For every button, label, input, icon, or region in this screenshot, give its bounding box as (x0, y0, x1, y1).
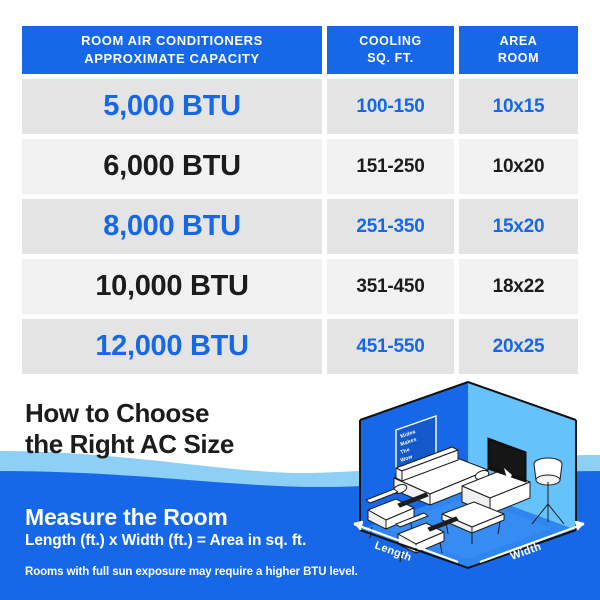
cell-area: 20x25 (459, 319, 578, 374)
cell-capacity: 6,000 BTU (22, 139, 322, 194)
header-area-line1: AREA (500, 34, 538, 48)
table-row: 5,000 BTU 100-150 10x15 (22, 79, 578, 134)
header-cooling-line2: SQ. FT. (367, 51, 414, 65)
cell-area: 10x15 (459, 79, 578, 134)
cell-cooling: 351-450 (327, 259, 454, 314)
cell-area: 18x22 (459, 259, 578, 314)
cell-cooling: 451-550 (327, 319, 454, 374)
room-illustration: Midea Makes The Wow (340, 372, 600, 572)
header-capacity-line2: APPROXIMATE CAPACITY (84, 51, 259, 66)
header-area-line2: ROOM (498, 51, 539, 65)
cell-cooling: 100-150 (327, 79, 454, 134)
cell-capacity: 12,000 BTU (22, 319, 322, 374)
cell-capacity: 5,000 BTU (22, 79, 322, 134)
banner-note: Rooms with full sun exposure may require… (25, 566, 358, 578)
headline-line-1: How to Choose (25, 398, 345, 429)
cell-capacity: 10,000 BTU (22, 259, 322, 314)
cell-area: 15x20 (459, 199, 578, 254)
cell-area: 10x20 (459, 139, 578, 194)
cell-cooling: 251-350 (327, 199, 454, 254)
infographic-page: ROOM AIR CONDITIONERS APPROXIMATE CAPACI… (0, 0, 600, 600)
btu-sizing-table: ROOM AIR CONDITIONERS APPROXIMATE CAPACI… (22, 26, 578, 379)
page-title: How to Choose the Right AC Size (25, 398, 345, 459)
banner-title: Measure the Room (25, 504, 228, 531)
header-cooling-line1: COOLING (359, 34, 422, 48)
cell-cooling: 151-250 (327, 139, 454, 194)
table-header-row: ROOM AIR CONDITIONERS APPROXIMATE CAPACI… (22, 26, 578, 74)
header-cell-area: AREA ROOM (459, 26, 578, 74)
cell-capacity: 8,000 BTU (22, 199, 322, 254)
table-row: 6,000 BTU 151-250 10x20 (22, 139, 578, 194)
table-row: 8,000 BTU 251-350 15x20 (22, 199, 578, 254)
banner-subtitle: Length (ft.) x Width (ft.) = Area in sq.… (25, 532, 306, 550)
header-cell-capacity: ROOM AIR CONDITIONERS APPROXIMATE CAPACI… (22, 26, 322, 74)
table-row: 12,000 BTU 451-550 20x25 (22, 319, 578, 374)
table-row: 10,000 BTU 351-450 18x22 (22, 259, 578, 314)
headline-line-2: the Right AC Size (25, 429, 345, 460)
header-cell-cooling: COOLING SQ. FT. (327, 26, 454, 74)
header-capacity-line1: ROOM AIR CONDITIONERS (81, 33, 263, 48)
